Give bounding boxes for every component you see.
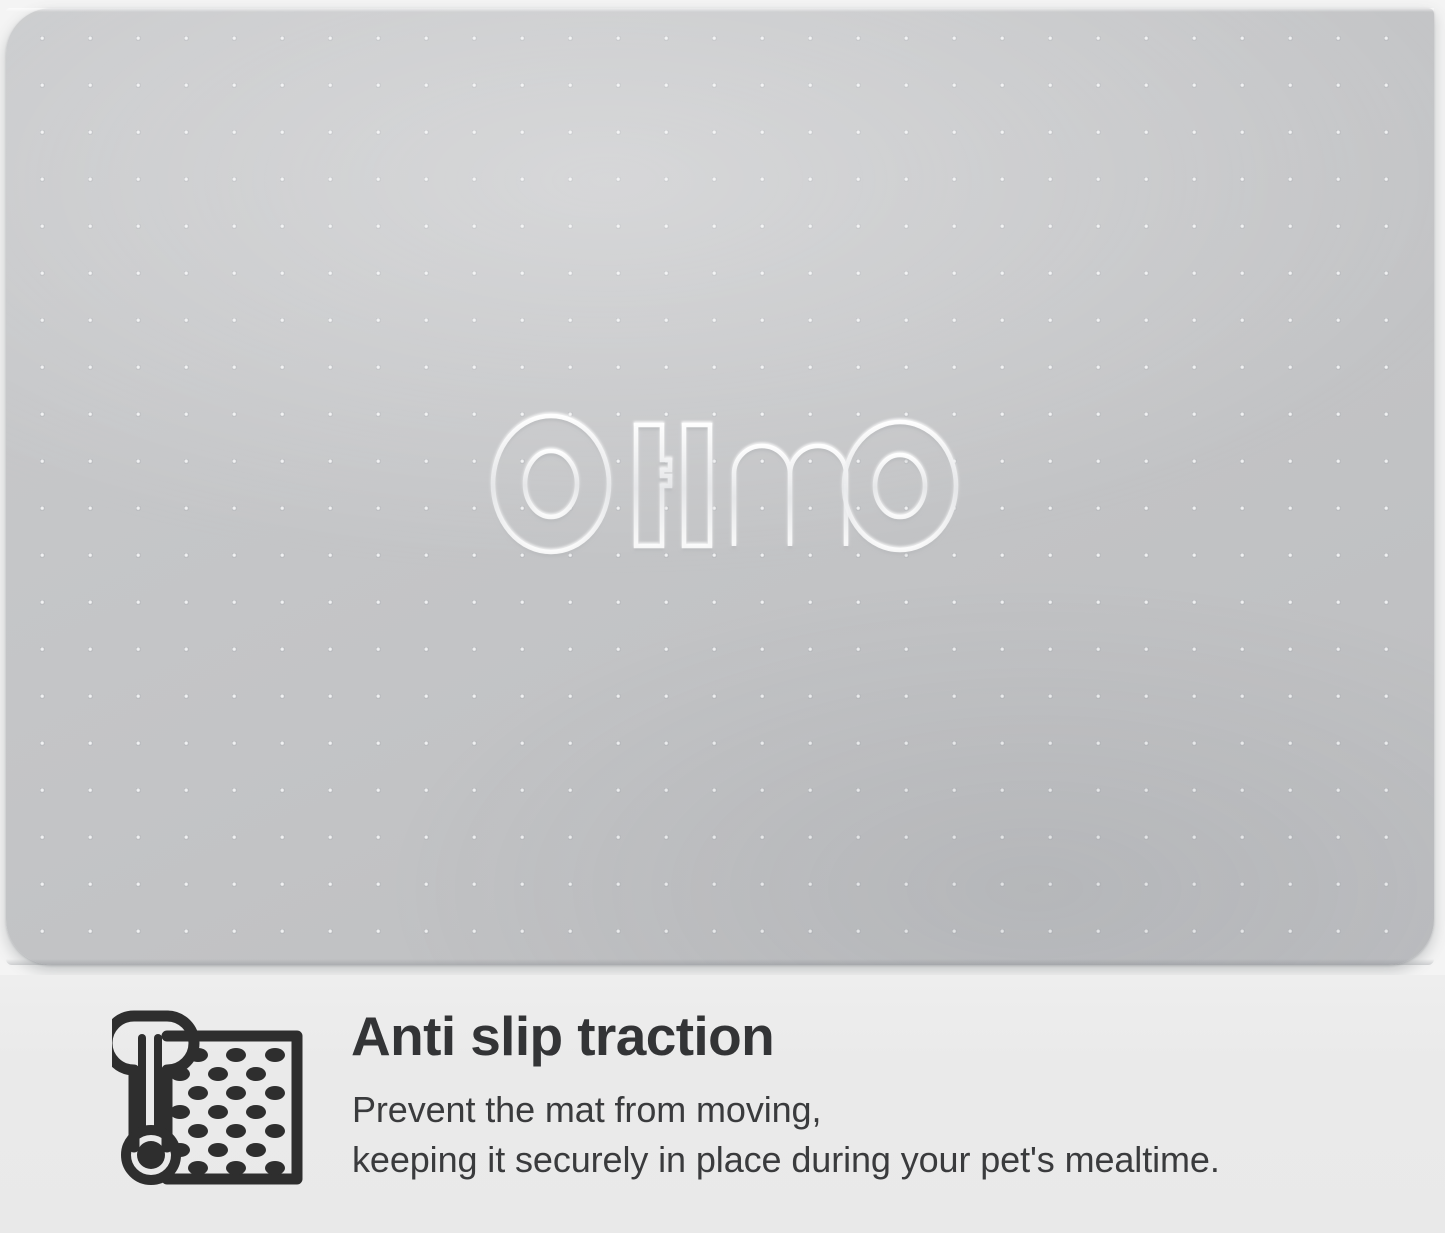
feature-caption-content: Anti slip traction Prevent the mat from … <box>0 0 1445 1233</box>
feature-description-line-2: keeping it securely in place during your… <box>352 1135 1220 1185</box>
feature-description: Prevent the mat from moving, keeping it … <box>352 1085 1220 1185</box>
product-feature-image: Anti slip traction Prevent the mat from … <box>0 0 1445 1233</box>
feature-title: Anti slip traction <box>351 1007 774 1065</box>
rolled-mat-dots-icon <box>112 1005 308 1190</box>
feature-description-line-1: Prevent the mat from moving, <box>352 1085 1220 1135</box>
